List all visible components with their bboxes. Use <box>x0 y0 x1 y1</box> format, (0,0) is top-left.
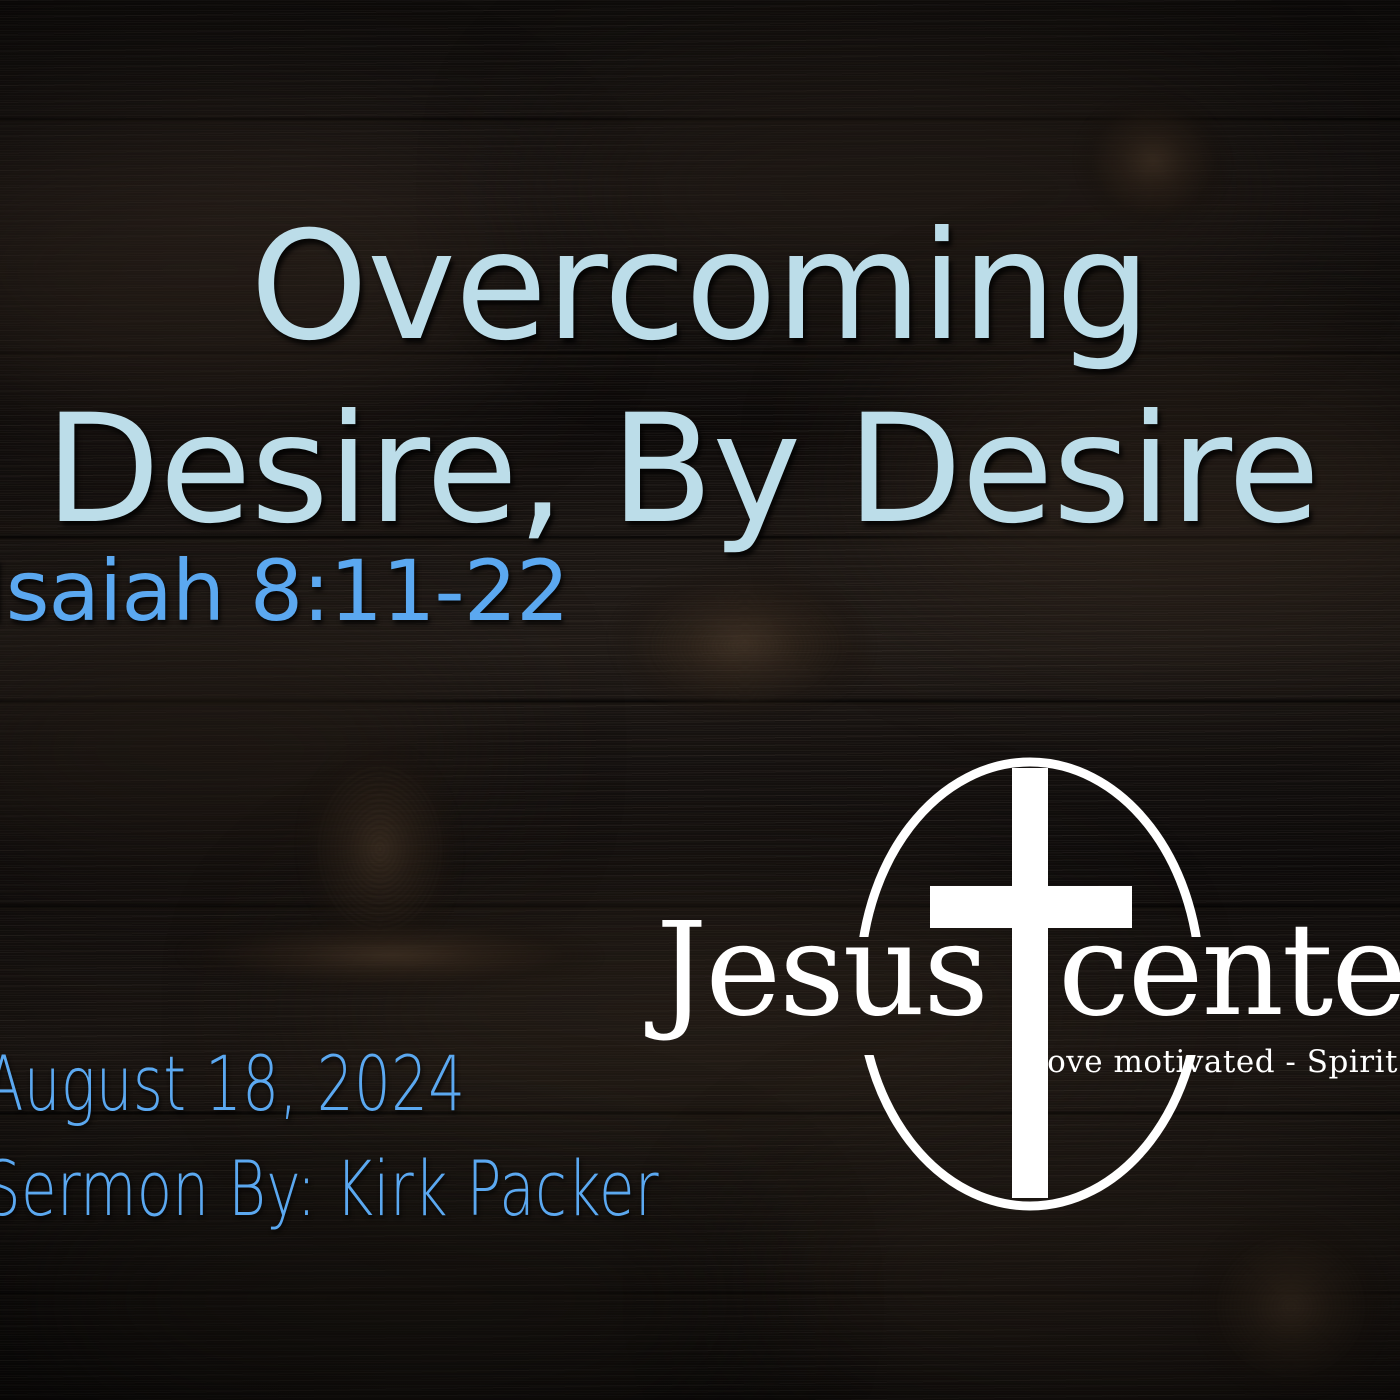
logo-tagline: Love motivated - Spirit driven <box>1026 1044 1400 1080</box>
sermon-title-slide: Overcoming Desire, By Desire Isaiah 8:11… <box>0 0 1400 1400</box>
sermon-title: Overcoming Desire, By Desire <box>0 196 1400 562</box>
logo-wordmark-jesus: Jesus <box>645 896 987 1045</box>
sermon-title-line-2: Desire, By Desire <box>0 379 1400 562</box>
sermon-date: August 18, 2024 <box>0 1032 562 1137</box>
logo-wordmark-center: center <box>1058 896 1400 1045</box>
scripture-reference: Isaiah 8:11-22 <box>0 545 1382 637</box>
slide-footer: August 18, 2024 Sermon By: Kirk Packer <box>0 1032 744 1242</box>
sermon-title-line-1: Overcoming <box>0 196 1400 379</box>
sermon-speaker: Sermon By: Kirk Packer <box>0 1137 562 1242</box>
church-logo: Jesus center Love motivated - Spirit dri… <box>648 752 1400 1222</box>
content-layer: Overcoming Desire, By Desire Isaiah 8:11… <box>0 0 1400 1400</box>
